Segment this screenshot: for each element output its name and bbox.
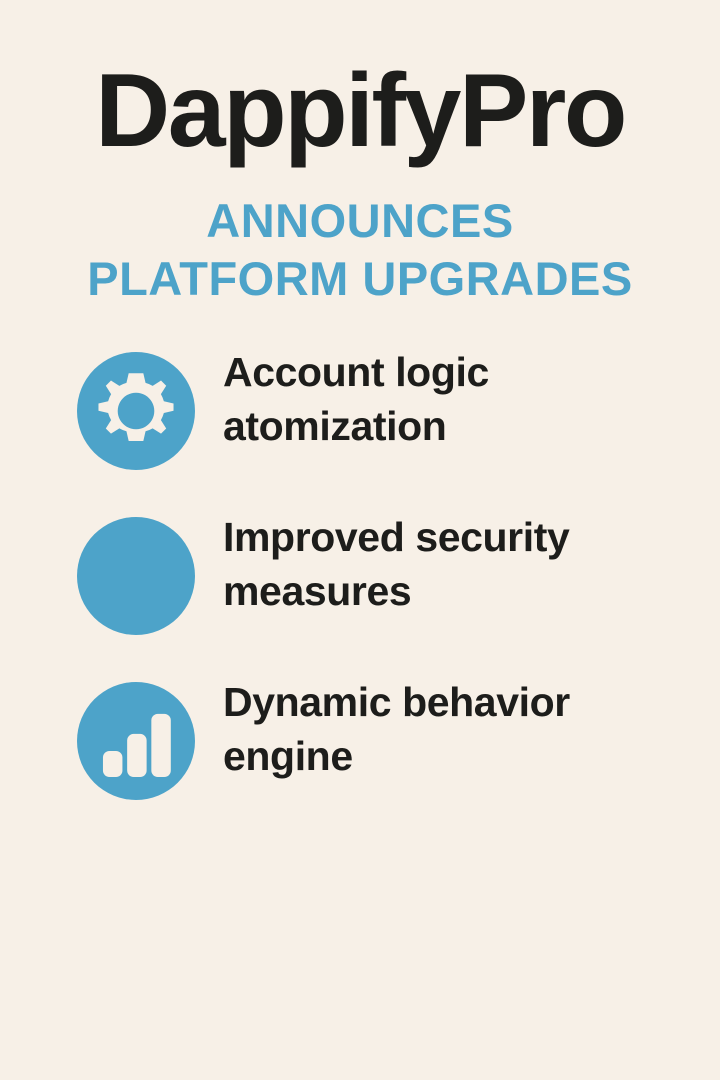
feature-item-dynamic-behavior: Dynamic behavior engine <box>0 675 720 840</box>
subheadline-line-2: PLATFORM UPGRADES <box>0 250 720 308</box>
announcement-poster: DappifyPro ANNOUNCES PLATFORM UPGRADES A… <box>0 0 720 1080</box>
bar-chart-icon <box>77 682 195 800</box>
subheadline: ANNOUNCES PLATFORM UPGRADES <box>0 192 720 308</box>
feature-item-improved-security: Improved security measures <box>0 510 720 675</box>
feature-item-account-logic: Account logic atomization <box>0 345 720 510</box>
feature-list: Account logic atomization Improved secur… <box>0 345 720 840</box>
circle-icon <box>77 517 195 635</box>
feature-label: Account logic atomization <box>223 345 720 453</box>
gear-icon <box>77 352 195 470</box>
page-title: DappifyPro <box>0 52 720 170</box>
feature-label: Dynamic behavior engine <box>223 675 720 783</box>
subheadline-line-1: ANNOUNCES <box>0 192 720 250</box>
feature-label: Improved security measures <box>223 510 720 618</box>
